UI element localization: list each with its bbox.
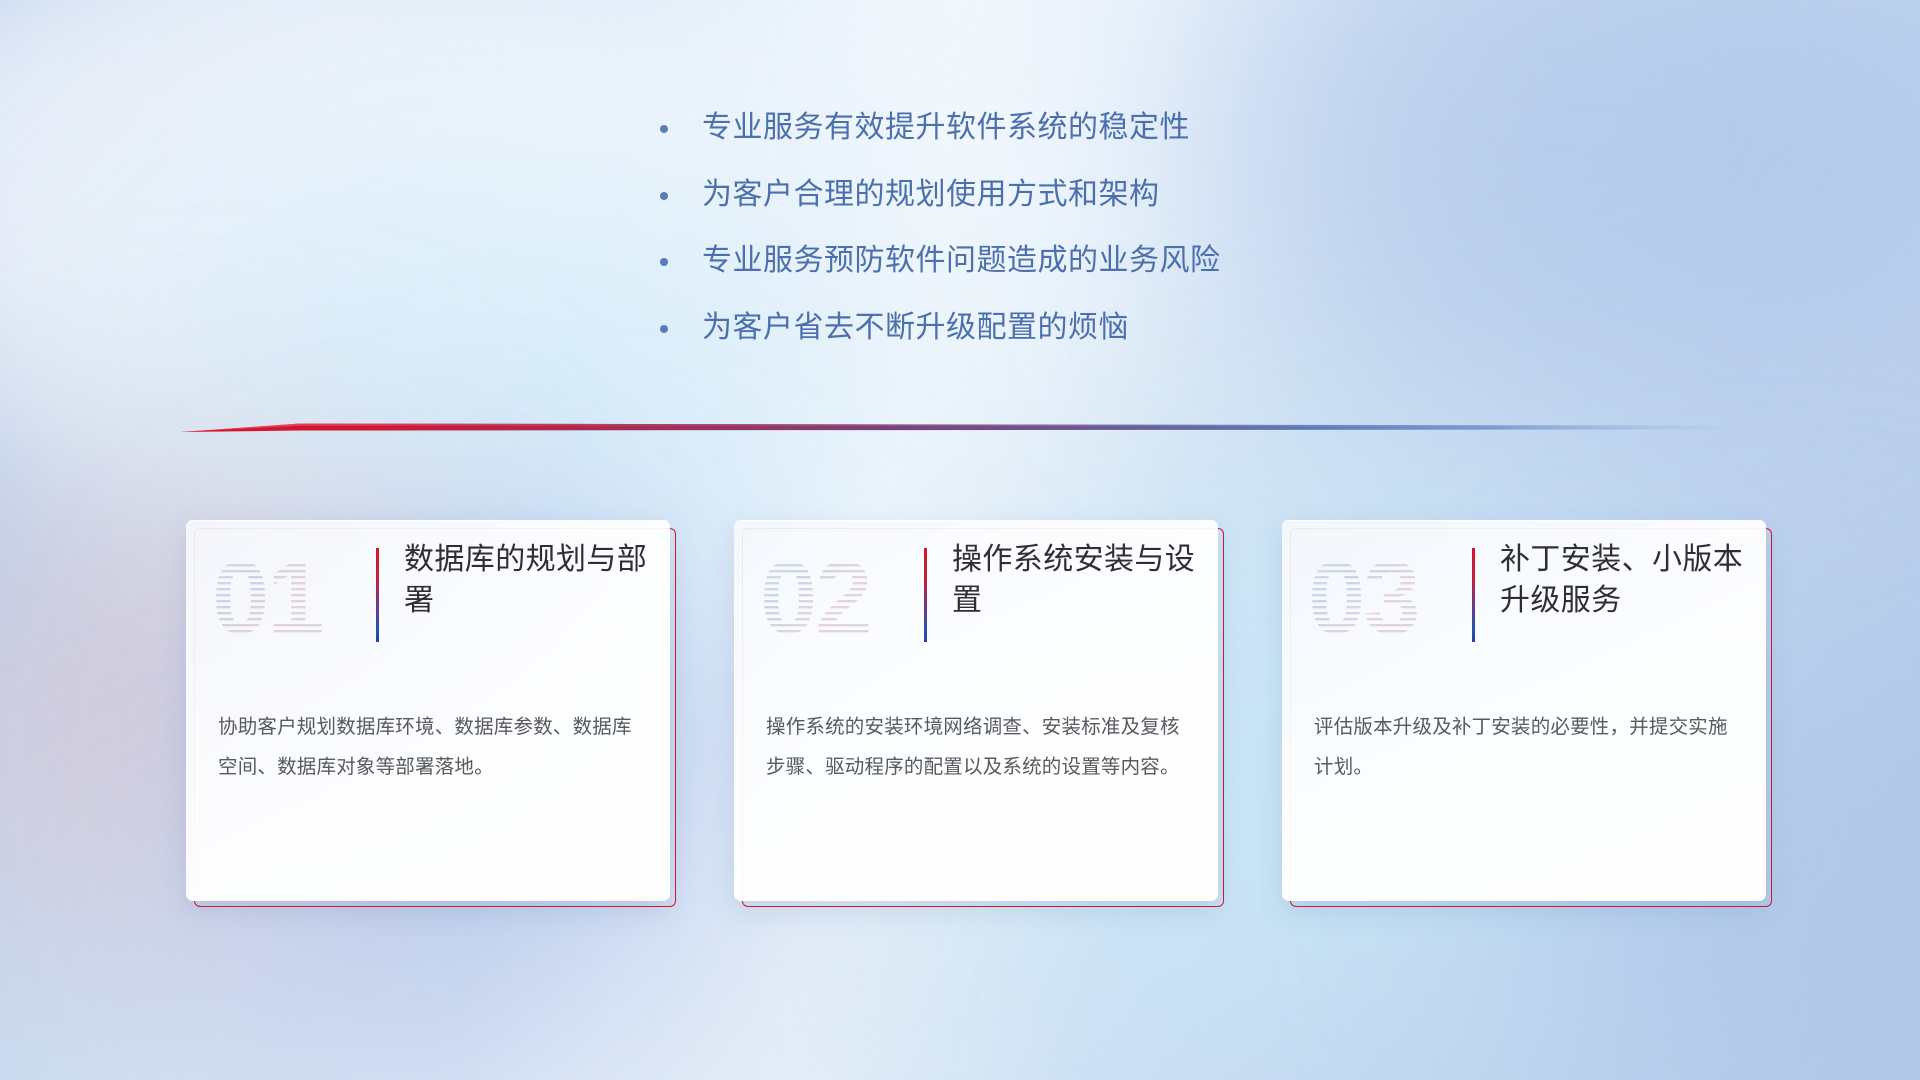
tapered-accent-divider (180, 418, 1740, 438)
card-header: 03 补丁安装、小版本升级服务 (1282, 520, 1766, 682)
card-title: 数据库的规划与部署 (404, 540, 652, 622)
card-surface: 01 数据库的规划与部署 协助客户规划数据库环境、数据库参数、数据库空间、数据库… (186, 520, 670, 901)
service-card-01[interactable]: 01 数据库的规划与部署 协助客户规划数据库环境、数据库参数、数据库空间、数据库… (186, 520, 676, 907)
card-header: 02 操作系统安装与设置 (734, 520, 1218, 682)
card-title: 补丁安装、小版本升级服务 (1500, 540, 1748, 622)
divider-wedge-icon (180, 418, 1740, 438)
card-accent-rule (376, 548, 379, 642)
card-surface: 03 补丁安装、小版本升级服务 评估版本升级及补丁安装的必要性，并提交实施计划。 (1282, 520, 1766, 901)
bullet-dot-icon (660, 258, 668, 266)
service-card-row: 01 数据库的规划与部署 协助客户规划数据库环境、数据库参数、数据库空间、数据库… (186, 520, 1772, 907)
bullet-dot-icon (660, 192, 668, 200)
card-number-watermark: 01 (210, 540, 342, 652)
card-number-text: 01 (212, 540, 323, 652)
bullet-text: 专业服务预防软件问题造成的业务风险 (702, 241, 1221, 281)
card-number-text: 02 (760, 540, 871, 652)
striped-numeral-icon: 01 (210, 540, 342, 652)
card-description: 操作系统的安装环境网络调查、安装标准及复核步骤、驱动程序的配置以及系统的设置等内… (766, 708, 1186, 788)
card-description: 协助客户规划数据库环境、数据库参数、数据库空间、数据库对象等部署落地。 (218, 708, 638, 788)
list-item: 为客户合理的规划使用方式和架构 (660, 175, 1420, 215)
card-number-watermark: 03 (1306, 540, 1438, 652)
striped-numeral-icon: 03 (1306, 540, 1438, 652)
card-number-watermark: 02 (758, 540, 890, 652)
bullet-dot-icon (660, 125, 668, 133)
list-item: 为客户省去不断升级配置的烦恼 (660, 308, 1420, 348)
card-description: 评估版本升级及补丁安装的必要性，并提交实施计划。 (1314, 708, 1734, 788)
card-header: 01 数据库的规划与部署 (186, 520, 670, 682)
bullet-dot-icon (660, 325, 668, 333)
card-surface: 02 操作系统安装与设置 操作系统的安装环境网络调查、安装标准及复核步骤、驱动程… (734, 520, 1218, 901)
list-item: 专业服务有效提升软件系统的稳定性 (660, 108, 1420, 148)
card-title: 操作系统安装与设置 (952, 540, 1200, 622)
service-card-03[interactable]: 03 补丁安装、小版本升级服务 评估版本升级及补丁安装的必要性，并提交实施计划。 (1282, 520, 1772, 907)
benefits-bullet-list: 专业服务有效提升软件系统的稳定性 为客户合理的规划使用方式和架构 专业服务预防软… (660, 108, 1420, 374)
bullet-text: 为客户省去不断升级配置的烦恼 (702, 308, 1129, 348)
card-number-text: 03 (1308, 540, 1419, 652)
striped-numeral-icon: 02 (758, 540, 890, 652)
service-card-02[interactable]: 02 操作系统安装与设置 操作系统的安装环境网络调查、安装标准及复核步骤、驱动程… (734, 520, 1224, 907)
list-item: 专业服务预防软件问题造成的业务风险 (660, 241, 1420, 281)
bullet-text: 专业服务有效提升软件系统的稳定性 (702, 108, 1190, 148)
slide-canvas: 专业服务有效提升软件系统的稳定性 为客户合理的规划使用方式和架构 专业服务预防软… (0, 0, 1920, 1080)
card-accent-rule (924, 548, 927, 642)
bullet-text: 为客户合理的规划使用方式和架构 (702, 175, 1160, 215)
card-accent-rule (1472, 548, 1475, 642)
